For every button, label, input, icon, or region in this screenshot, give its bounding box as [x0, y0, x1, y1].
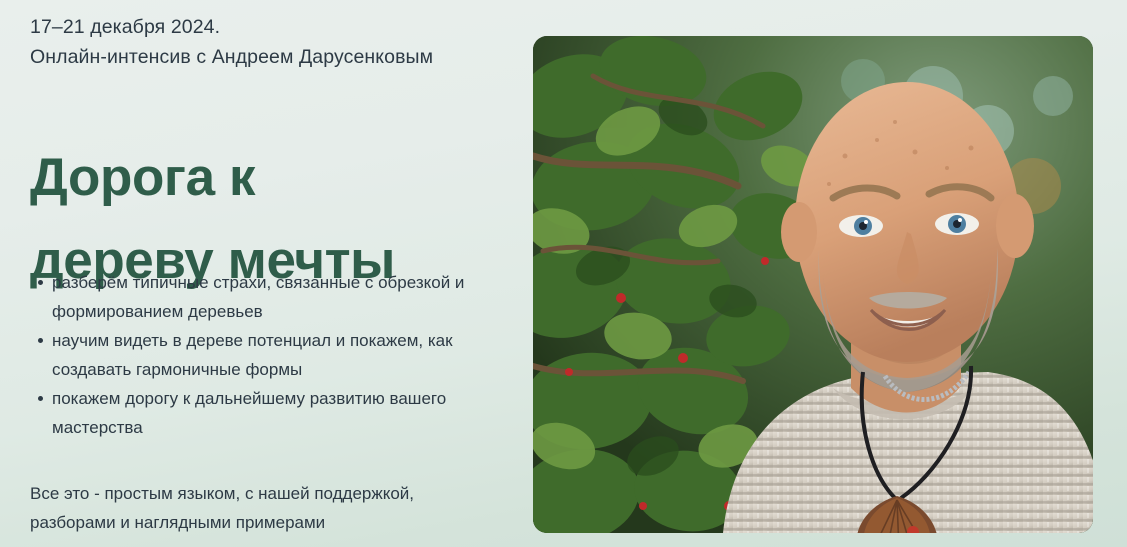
list-item: покажем дорогу к дальнейшему развитию ва… — [30, 384, 520, 442]
list-item: научим видеть в дереве потенциал и покаж… — [30, 326, 520, 384]
event-dates: 17–21 декабря 2024. — [30, 12, 530, 42]
instructor-photo — [533, 36, 1093, 533]
feature-list: разберём типичные страхи, связанные с об… — [30, 268, 520, 442]
text-column: 17–21 декабря 2024. Онлайн-интенсив с Ан… — [30, 0, 530, 547]
closing-statement: Все это - простым языком, с нашей поддер… — [30, 479, 500, 537]
event-subtitle: 17–21 декабря 2024. Онлайн-интенсив с Ан… — [30, 12, 530, 72]
page-title-line-1: Дорога к — [30, 136, 530, 219]
event-format: Онлайн-интенсив с Андреем Дарусенковым — [30, 42, 530, 72]
promo-banner: 17–21 декабря 2024. Онлайн-интенсив с Ан… — [0, 0, 1127, 547]
list-item: разберём типичные страхи, связанные с об… — [30, 268, 520, 326]
